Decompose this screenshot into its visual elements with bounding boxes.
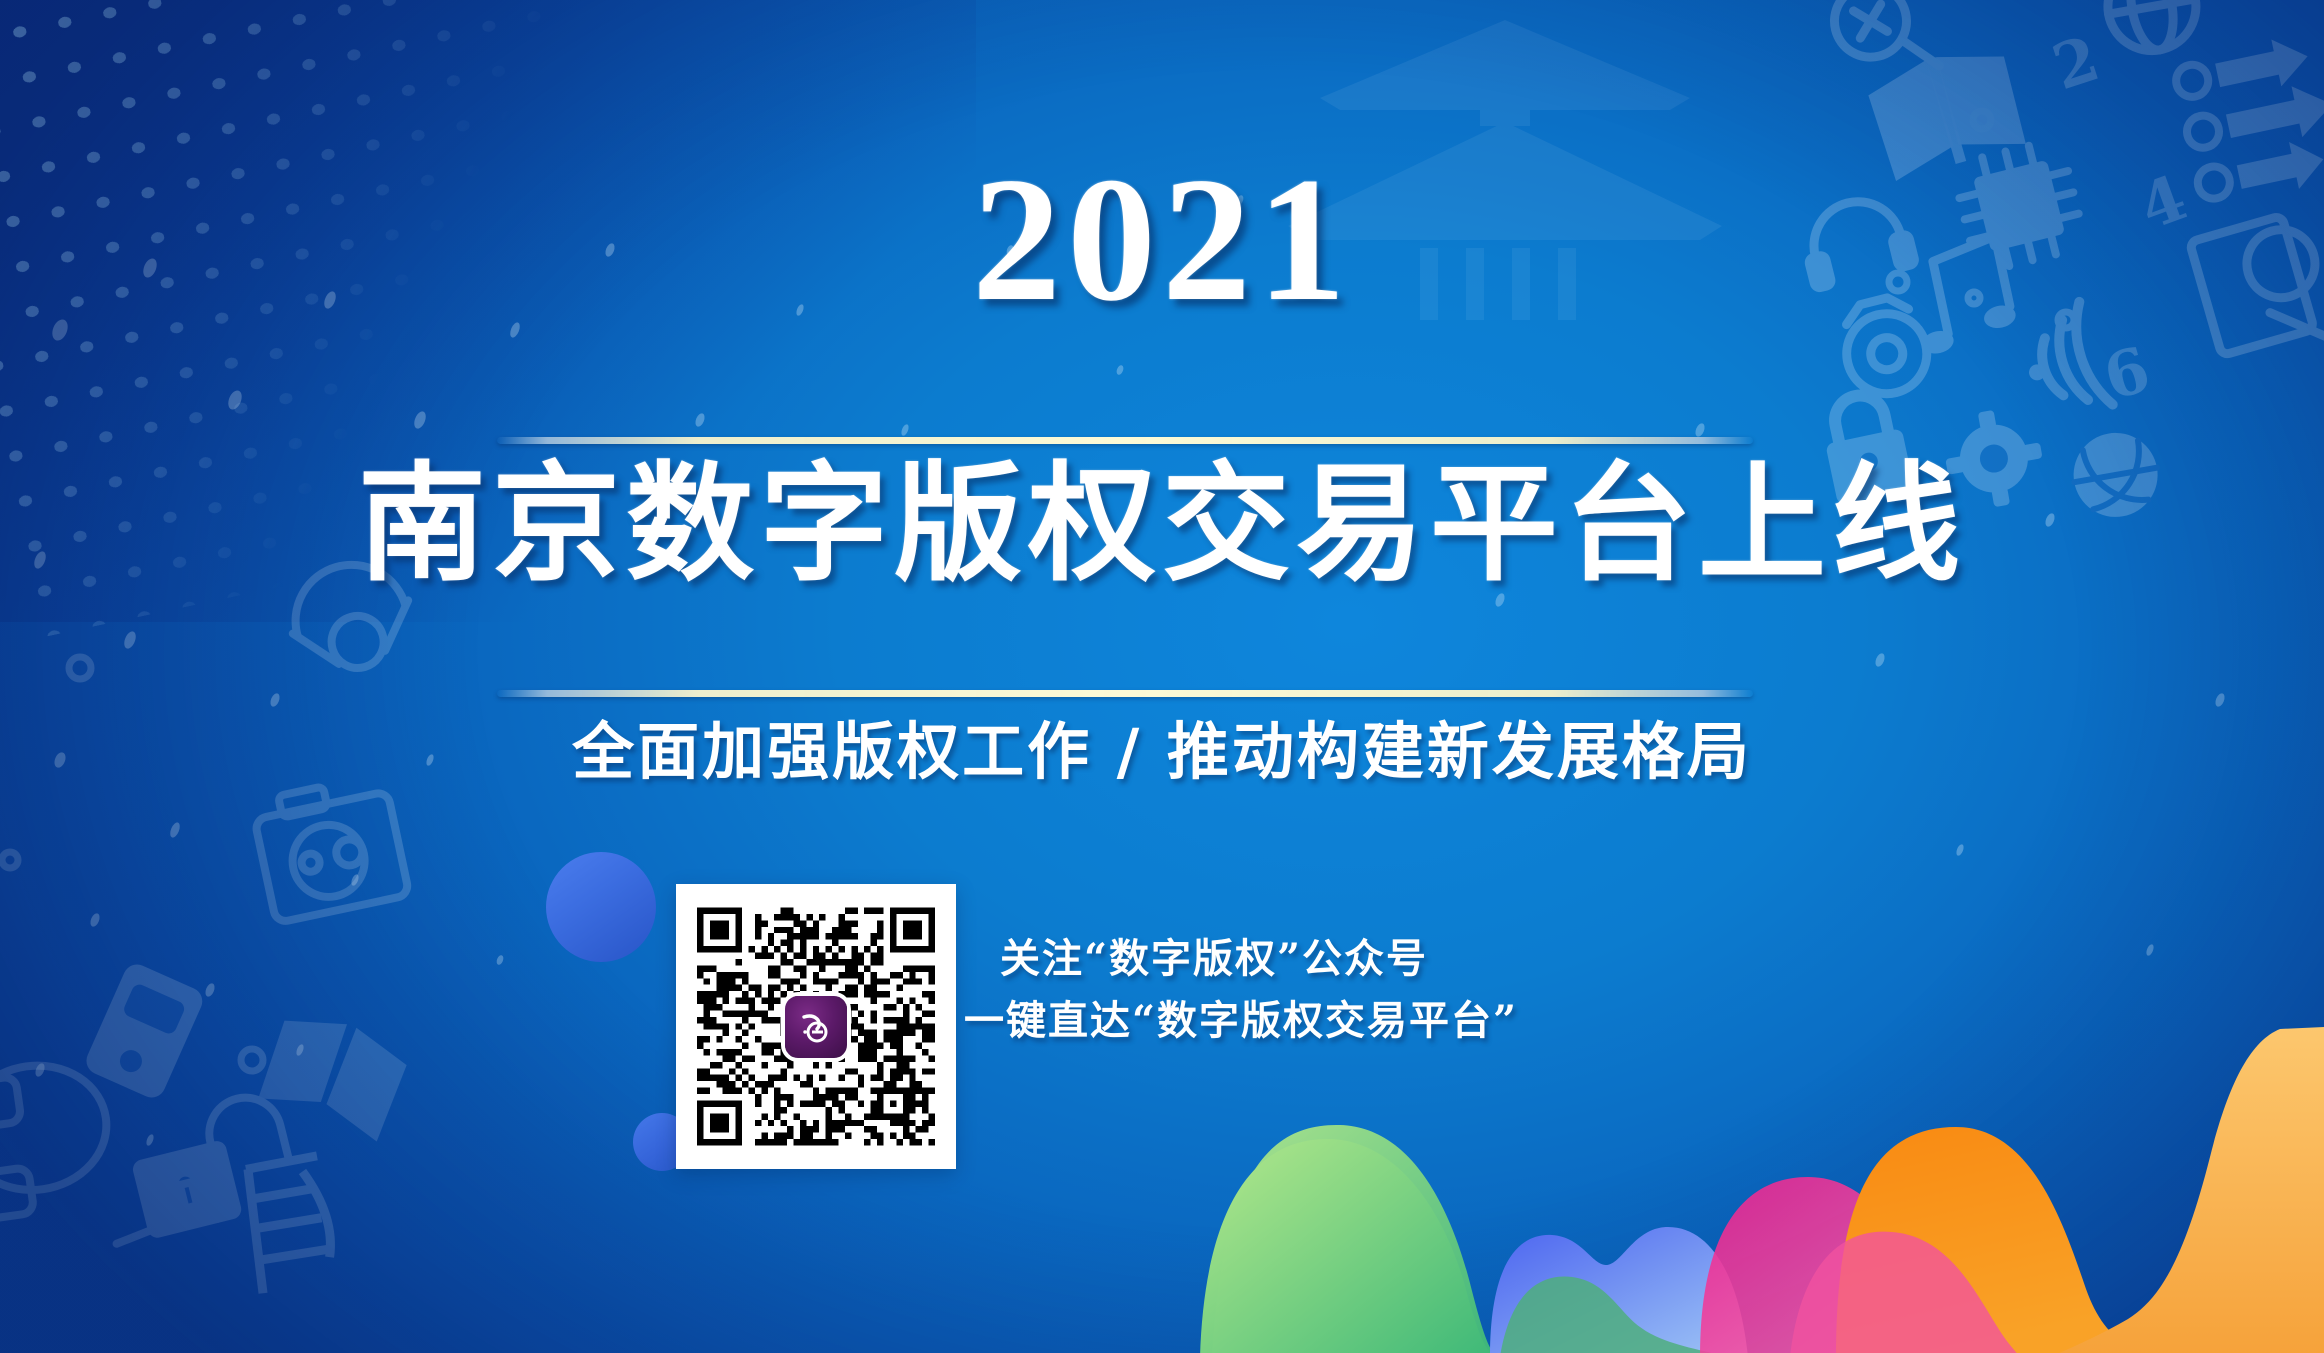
decor-circle-large	[546, 852, 656, 962]
divider-top	[497, 437, 1753, 444]
qr-center-logo	[785, 996, 847, 1058]
page-title: 南京数字版权交易平台上线	[0, 460, 2324, 588]
qr-code[interactable]	[676, 884, 956, 1169]
qr-caption: 关注“数字版权”公众号 一键直达“数字版权交易平台”	[1000, 928, 1700, 1052]
qr-caption-line-2: 一键直达“数字版权交易平台”	[964, 990, 1700, 1052]
qr-caption-line-1: 关注“数字版权”公众号	[1000, 928, 1700, 990]
wechat-account-glyph-icon	[796, 1007, 836, 1047]
divider-bottom	[497, 690, 1753, 697]
year-heading: 2021	[0, 150, 2324, 328]
page-subtitle: 全面加强版权工作 / 推动构建新发展格局	[0, 718, 2324, 786]
poster-canvas: 2 4 6	[0, 0, 2324, 1353]
